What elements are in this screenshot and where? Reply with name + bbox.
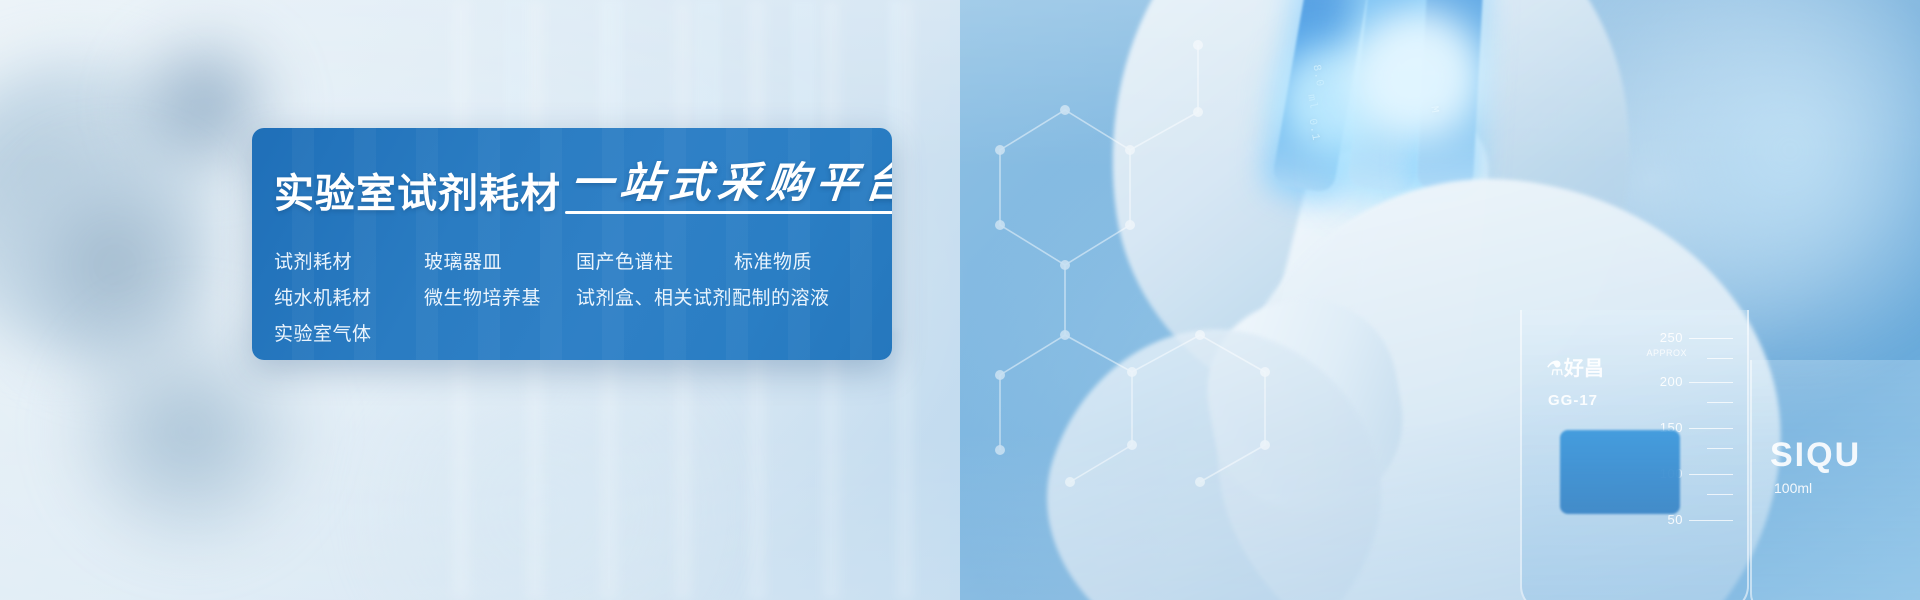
category-item[interactable]: 标准物质	[734, 253, 874, 272]
category-item[interactable]: 玻璃器皿	[424, 253, 576, 272]
banner-title: 实验室试剂耗材 一站式采购平台	[274, 162, 892, 214]
promo-panel: 实验室试剂耗材 一站式采购平台 试剂耗材 玻璃器皿 国产色谱柱 标准物质 纯水机…	[252, 128, 892, 360]
category-item[interactable]: 试剂耗材	[274, 253, 424, 272]
category-row: 试剂耗材 玻璃器皿 国产色谱柱 标准物质	[274, 244, 892, 280]
category-item[interactable]: 国产色谱柱	[576, 253, 734, 272]
category-list: 试剂耗材 玻璃器皿 国产色谱柱 标准物质 纯水机耗材 微生物培养基 试剂盒、相关…	[274, 244, 892, 352]
category-row: 实验室气体	[274, 316, 892, 352]
category-item[interactable]: 试剂盒、相关试剂配制的溶液	[576, 289, 830, 308]
title-script-wrap: 一站式采购平台	[571, 162, 892, 214]
category-item[interactable]: 实验室气体	[274, 325, 424, 344]
category-row: 纯水机耗材 微生物培养基 试剂盒、相关试剂配制的溶液	[274, 280, 892, 316]
lab-banner: 8.0 ml 0.1 M	[0, 0, 1920, 600]
category-item[interactable]: 微生物培养基	[424, 289, 576, 308]
category-item[interactable]: 纯水机耗材	[274, 289, 424, 308]
title-main-text: 实验室试剂耗材	[274, 174, 561, 214]
title-script-text: 一站式采购平台	[569, 162, 892, 204]
title-underline	[565, 211, 892, 214]
